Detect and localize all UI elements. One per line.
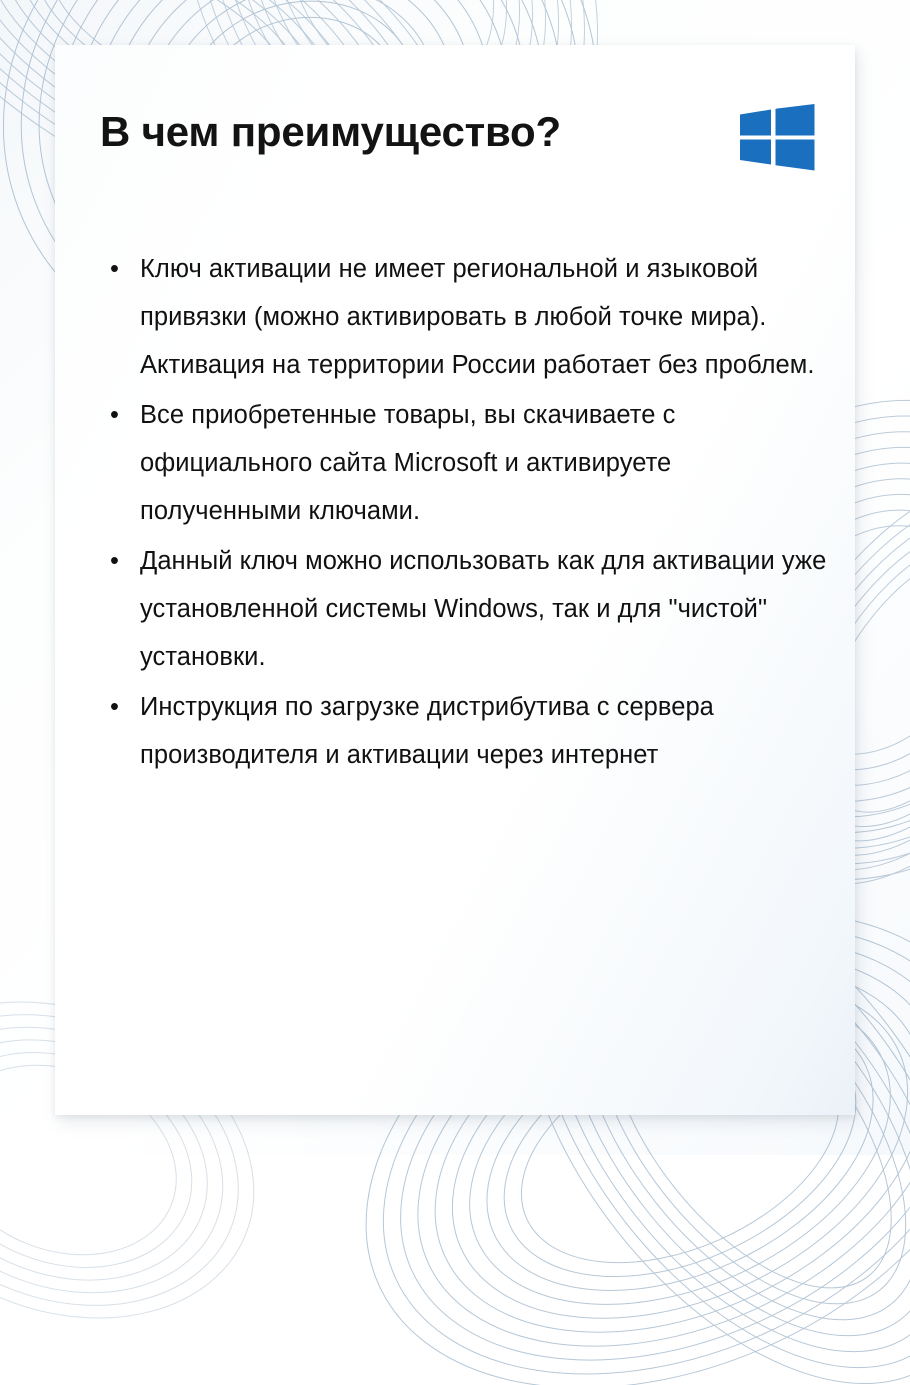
bullet-marker-icon: • [110, 537, 122, 585]
list-item: • Все приобретенные товары, вы скачивает… [105, 391, 835, 535]
slide-card: В чем преимущество? • Ключ активации не … [55, 45, 855, 1115]
benefits-list: • Ключ активации не имеет региональной и… [105, 245, 835, 781]
list-item: • Данный ключ можно использовать как для… [105, 537, 835, 681]
list-item-text: Данный ключ можно использовать как для а… [140, 537, 835, 681]
bullet-marker-icon: • [110, 391, 122, 439]
list-item-text: Все приобретенные товары, вы скачиваете … [140, 391, 835, 535]
bullet-marker-icon: • [110, 683, 122, 731]
list-item: • Инструкция по загрузке дистрибутива с … [105, 683, 835, 779]
slide-header: В чем преимущество? [100, 100, 817, 178]
page-title: В чем преимущество? [100, 100, 561, 164]
slide-page: В чем преимущество? • Ключ активации не … [0, 0, 910, 1155]
bullet-marker-icon: • [110, 245, 122, 293]
list-item-text: Инструкция по загрузке дистрибутива с се… [140, 683, 835, 779]
list-item-text: Ключ активации не имеет региональной и я… [140, 245, 835, 389]
windows-logo-icon [737, 104, 817, 172]
list-item: • Ключ активации не имеет региональной и… [105, 245, 835, 389]
